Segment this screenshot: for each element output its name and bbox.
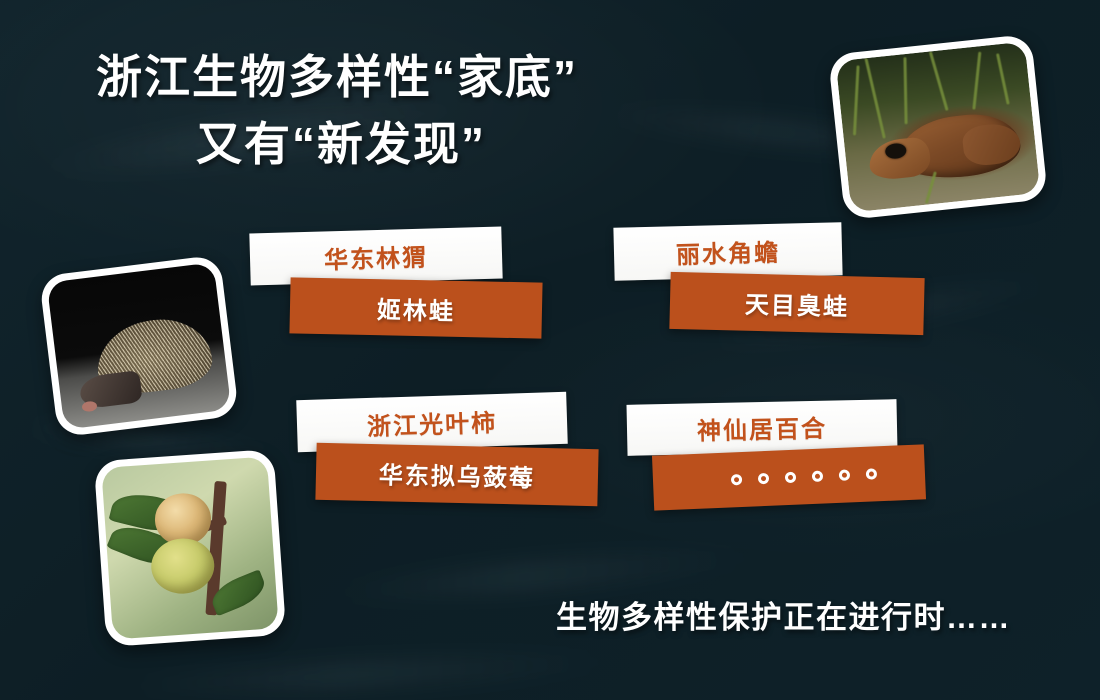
- species-name: 天目臭蛙: [670, 283, 925, 324]
- persimmon-photo-image: [101, 456, 279, 639]
- grass-blade: [903, 57, 907, 124]
- species-label-card-white[interactable]: 丽水角蟾: [613, 222, 842, 281]
- species-more-card-orange[interactable]: [652, 444, 926, 510]
- species-name: 华东林猬: [250, 235, 503, 277]
- grass-blade: [853, 65, 860, 135]
- species-label-card-orange[interactable]: 华东拟乌蔹莓: [315, 443, 598, 506]
- ellipsis-dot: [866, 468, 877, 479]
- hedgehog-photo-image: [47, 262, 232, 429]
- headline: 浙江生物多样性“家底” 又有“新发现”: [96, 44, 656, 177]
- species-name: 神仙居百合: [627, 407, 898, 448]
- grass-blade: [929, 51, 949, 110]
- species-label-card-orange[interactable]: 姬林蛙: [289, 277, 542, 338]
- headline-line-1: 浙江生物多样性“家底”: [96, 44, 656, 111]
- persimmon-photo: [94, 449, 287, 647]
- species-name: 丽水角蟾: [614, 231, 843, 272]
- ellipsis-dots: [653, 466, 925, 488]
- ellipsis-dot: [785, 472, 796, 483]
- species-label-card-white[interactable]: 华东林猬: [249, 226, 502, 285]
- hedgehog-nose: [82, 400, 98, 412]
- ellipsis-dot: [839, 469, 850, 480]
- hedgehog-photo: [39, 255, 239, 438]
- species-label-card-orange[interactable]: 天目臭蛙: [669, 272, 924, 335]
- poster-root: 浙江生物多样性“家底” 又有“新发现”: [0, 0, 1100, 700]
- frog-photo: [828, 34, 1048, 220]
- background-texture-streak: [120, 647, 621, 700]
- ellipsis-dot: [812, 471, 823, 482]
- headline-line-2: 又有“新发现”: [96, 111, 656, 178]
- ellipsis-dot: [758, 473, 769, 484]
- grass-blade: [972, 51, 981, 109]
- species-name: 浙江光叶柿: [297, 400, 568, 443]
- bottom-caption: 生物多样性保护正在进行时……: [556, 592, 1011, 637]
- grass-blade: [865, 58, 886, 139]
- species-name: 华东拟乌蔹莓: [316, 454, 599, 495]
- grass-blade: [996, 53, 1010, 104]
- ellipsis-dot: [731, 474, 742, 485]
- frog-photo-image: [836, 41, 1041, 212]
- species-name: 姬林蛙: [290, 288, 543, 328]
